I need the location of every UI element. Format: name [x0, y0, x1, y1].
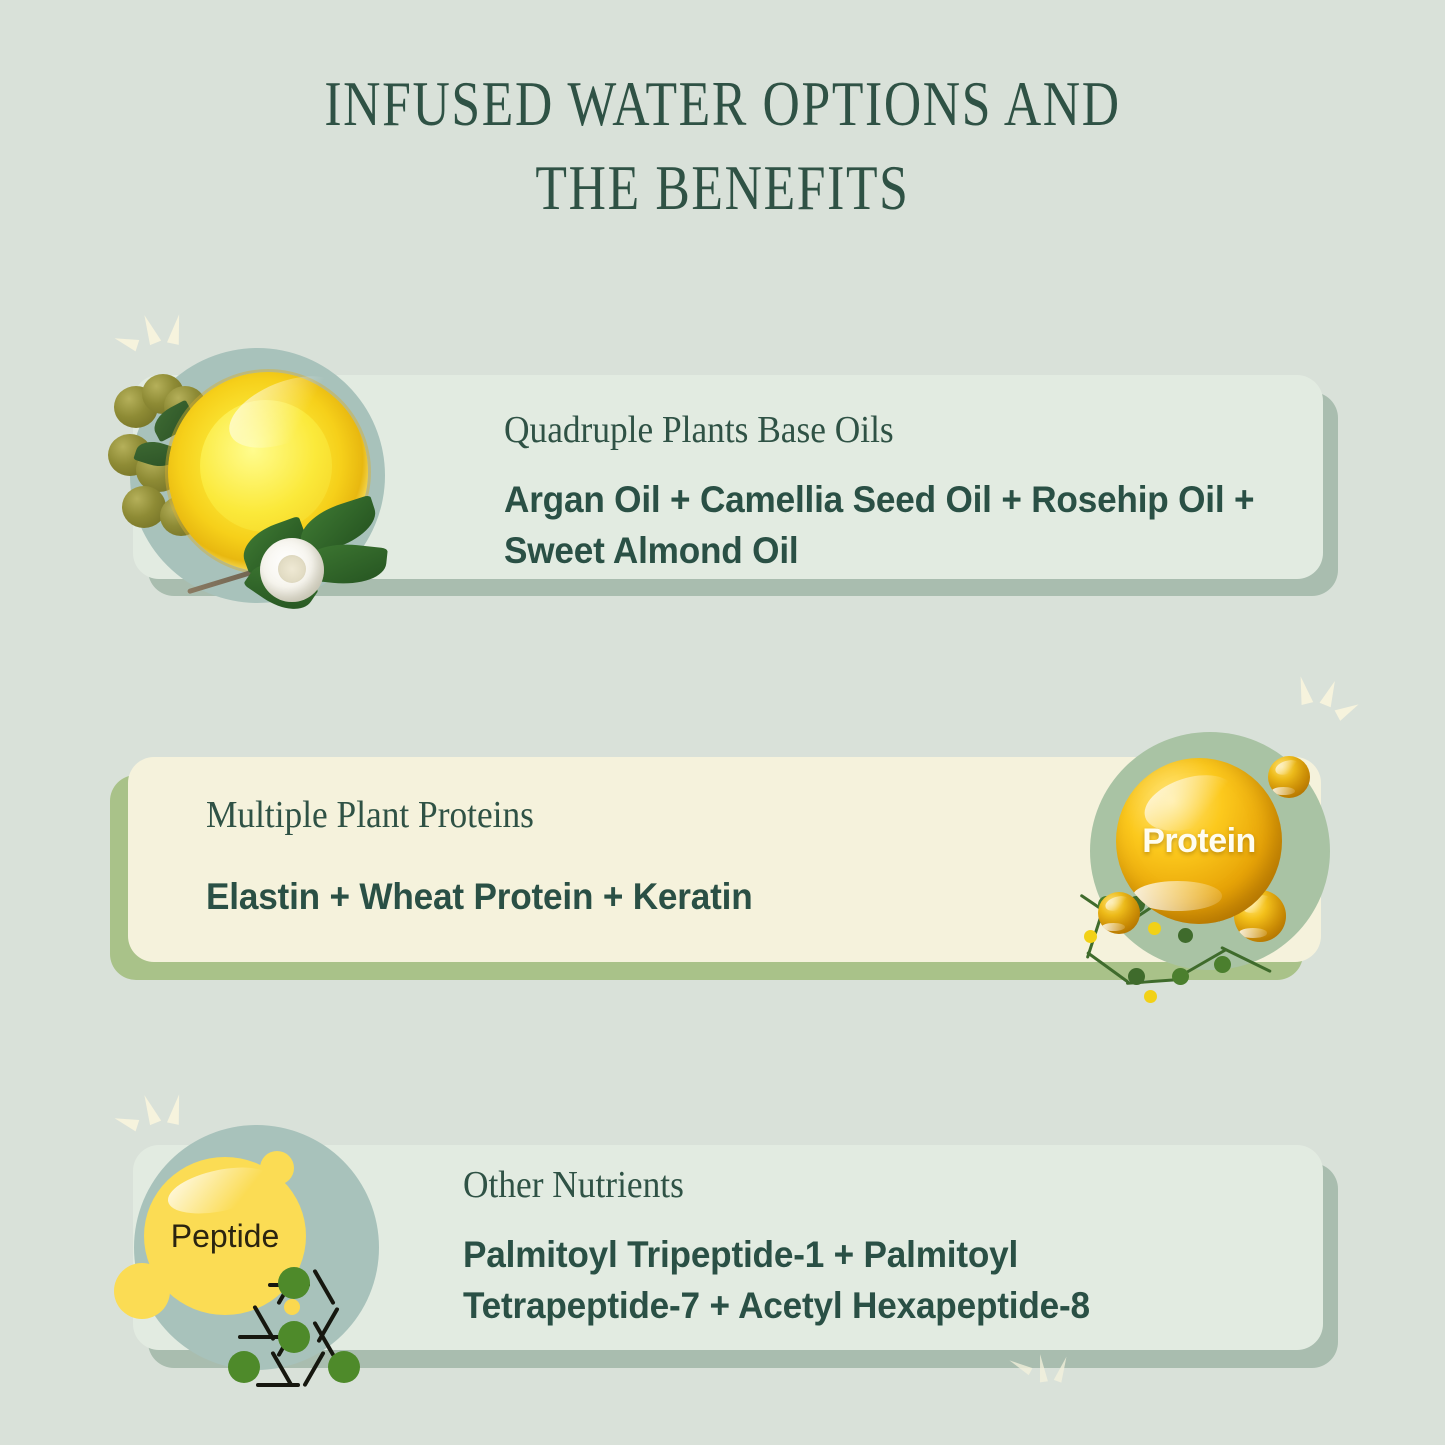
protein-label: Protein: [1116, 758, 1282, 924]
card-base-oils-eyebrow: Quadruple Plants Base Oils: [504, 408, 1267, 452]
card-other-nutrients-text: Other Nutrients Palmitoyl Tripeptide-1 +…: [463, 1163, 1253, 1331]
card-plant-proteins-eyebrow: Multiple Plant Proteins: [206, 793, 1043, 837]
molecule-node: [328, 1351, 360, 1383]
graphic-olive-oil-bowl: [108, 330, 438, 650]
sparkle-icon-card-bottom: [1014, 1348, 1084, 1392]
card-other-nutrients-eyebrow: Other Nutrients: [463, 1163, 1198, 1207]
molecule-node: [1178, 928, 1193, 943]
molecule-node: [278, 1267, 310, 1299]
card-base-oils-detail-line-2: Sweet Almond Oil: [504, 525, 1283, 576]
molecule-node: [1172, 968, 1189, 985]
page-title-line-1: INFUSED WATER OPTIONS AND: [130, 62, 1315, 146]
graphic-protein-droplet: Protein: [1062, 700, 1362, 1000]
olive-icon: [122, 486, 166, 528]
card-other-nutrients-detail-line-1: Palmitoyl Tripeptide-1 + Palmitoyl: [463, 1229, 1214, 1280]
card-other-nutrients-detail-line-2: Tetrapeptide-7 + Acetyl Hexapeptide-8: [463, 1280, 1214, 1331]
card-base-oils-text: Quadruple Plants Base Oils Argan Oil + C…: [504, 408, 1324, 576]
page-title: INFUSED WATER OPTIONS AND THE BENEFITS: [130, 62, 1315, 230]
molecule-node: [1084, 930, 1097, 943]
molecule-node: [284, 1299, 300, 1315]
molecule-node: [228, 1351, 260, 1383]
molecule-bond: [238, 1335, 280, 1339]
card-base-oils-detail-line-1: Argan Oil + Camellia Seed Oil + Rosehip …: [504, 474, 1283, 525]
molecule-node: [278, 1321, 310, 1353]
molecule-node: [1214, 956, 1231, 973]
molecule-bond: [1086, 951, 1130, 984]
camellia-flower-icon: [260, 538, 324, 602]
poster-canvas: INFUSED WATER OPTIONS AND THE BENEFITS Q…: [0, 0, 1445, 1445]
card-plant-proteins-detail-line-1: Elastin + Wheat Protein + Keratin: [206, 871, 1061, 922]
molecule-bond: [256, 1383, 300, 1387]
molecule-node: [1144, 990, 1157, 1003]
graphic-peptide-sphere: Peptide: [108, 1095, 408, 1405]
card-plant-proteins-text: Multiple Plant Proteins Elastin + Wheat …: [206, 793, 1106, 922]
page-title-line-2: THE BENEFITS: [130, 146, 1315, 230]
molecule-node: [1128, 968, 1145, 985]
